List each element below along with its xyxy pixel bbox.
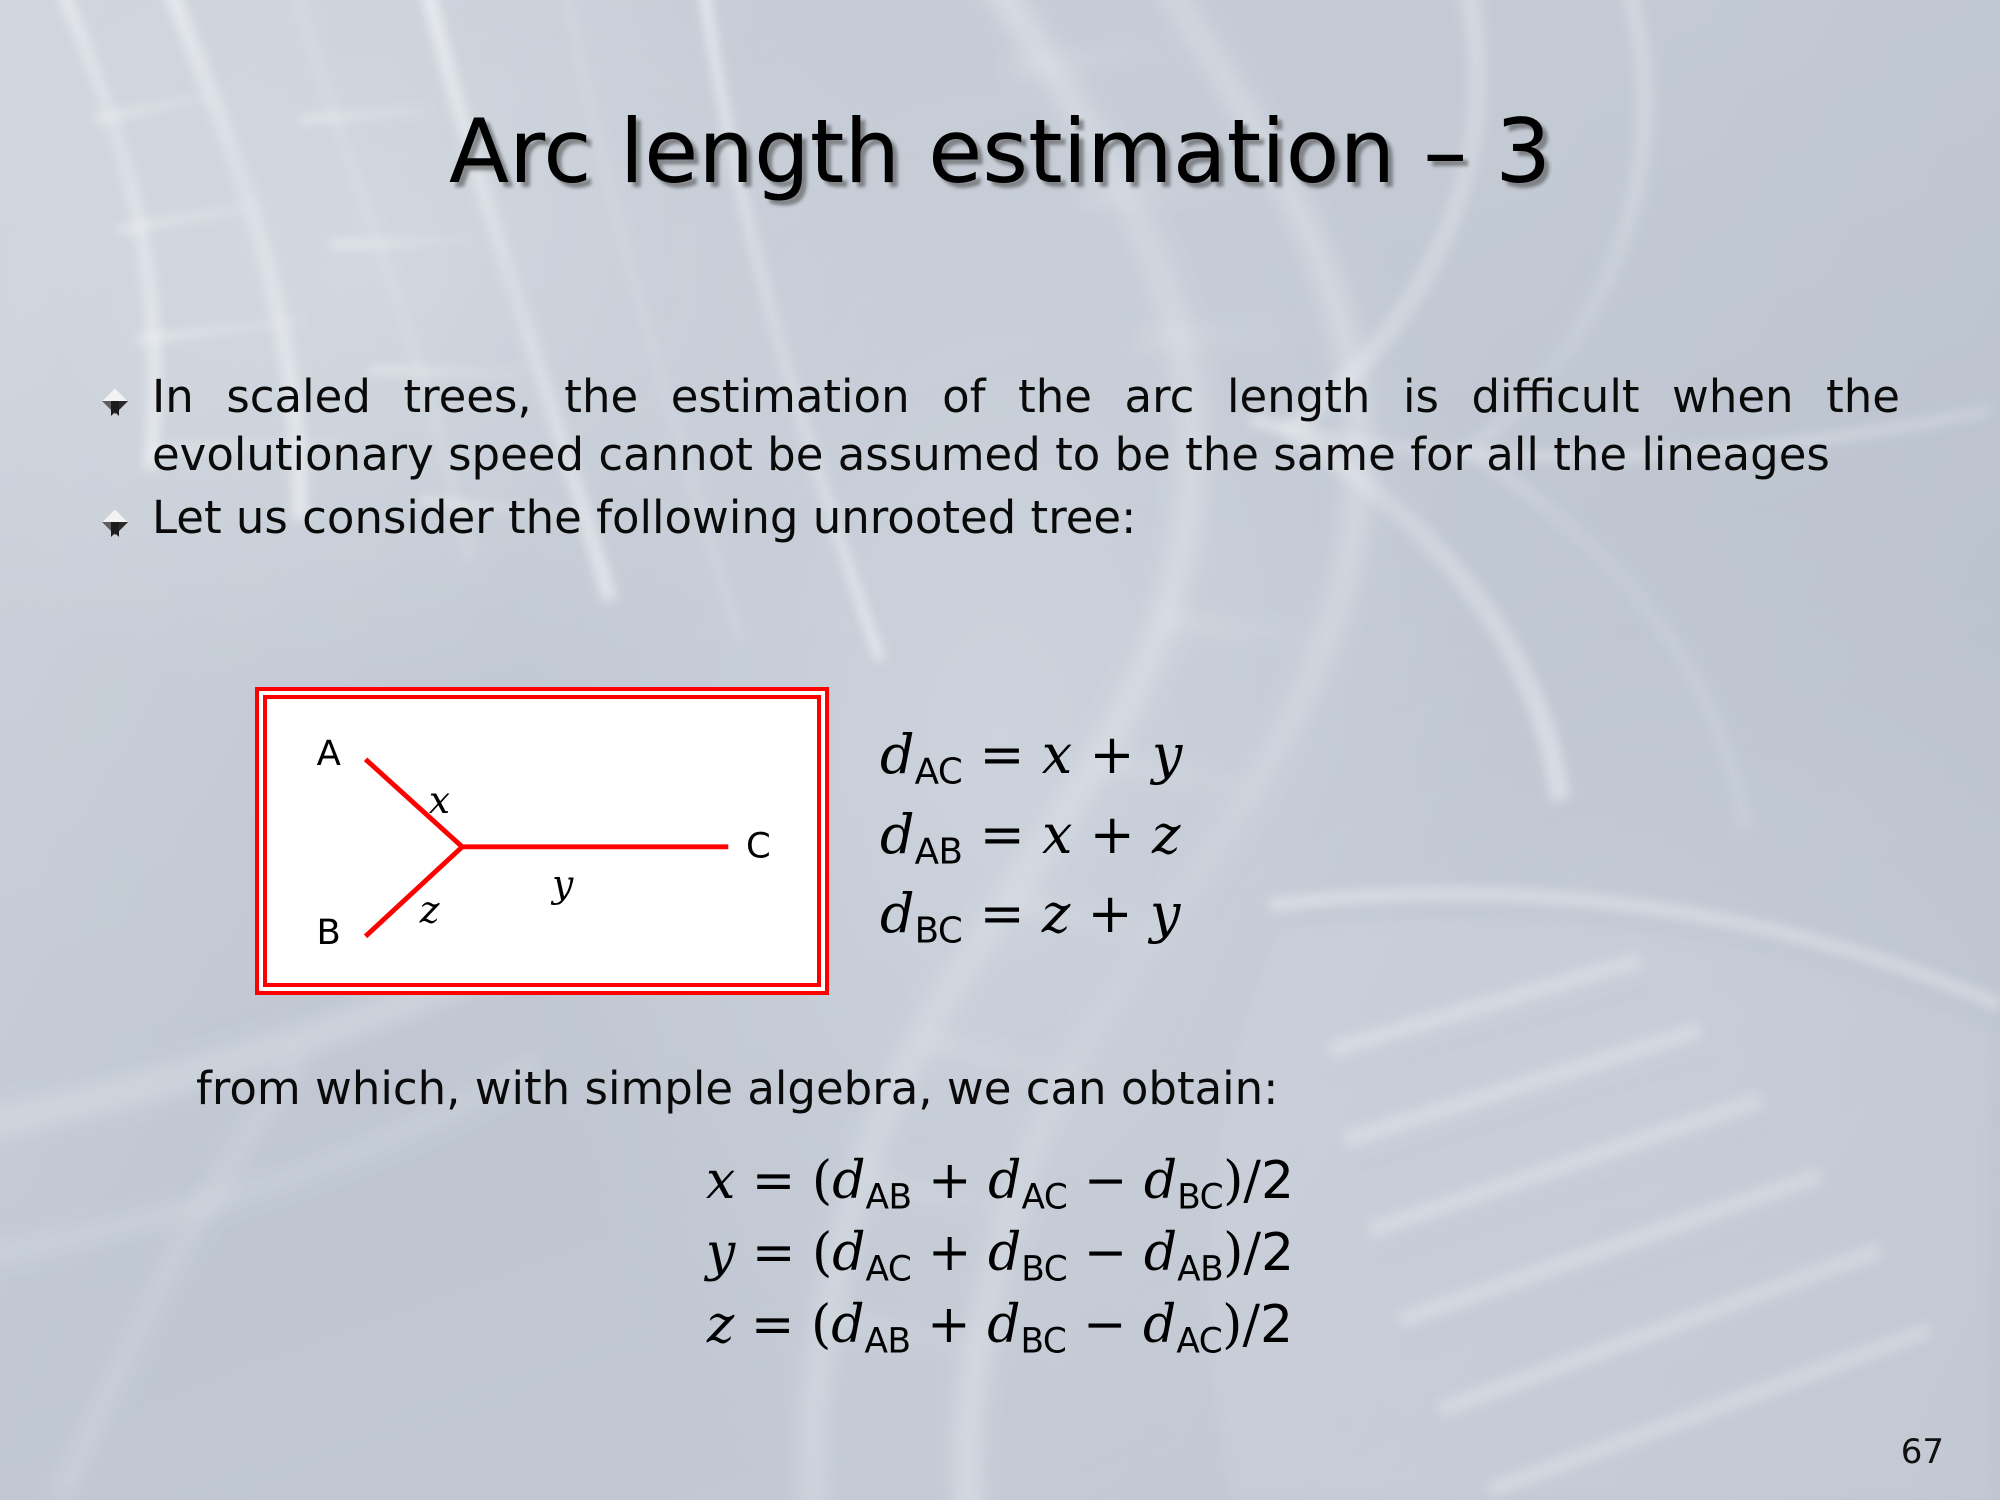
close-paren: ): [1222, 1295, 1242, 1355]
close-paren: ): [1223, 1223, 1243, 1283]
d-symbol: d: [988, 1151, 1021, 1211]
close-paren: ): [1223, 1151, 1243, 1211]
presentation-slide: Arc length estimation – 3 In scaled tree…: [0, 0, 2000, 1500]
solution-variable: x: [706, 1151, 735, 1211]
plus-symbol: +: [928, 1151, 972, 1211]
minus-symbol: −: [1084, 1223, 1128, 1283]
plus-symbol: +: [927, 1295, 971, 1355]
distance-rhs: x + z: [1042, 803, 1180, 866]
bullet-text: In scaled trees, the estimation of the a…: [152, 368, 1900, 483]
divisor: 2: [1261, 1223, 1294, 1283]
equals-symbol: =: [980, 803, 1025, 866]
equals-symbol: =: [979, 723, 1024, 786]
term-subscript: AB: [1177, 1249, 1223, 1289]
plus-symbol: +: [928, 1223, 972, 1283]
equals-symbol: =: [751, 1295, 795, 1355]
taxon-label-a: A: [317, 733, 341, 774]
distance-equation: dAB = x + z: [880, 798, 1182, 878]
bullet-text: Let us consider the following unrooted t…: [152, 489, 1900, 547]
taxon-label-c: C: [746, 826, 771, 867]
distance-equation: dAC = x + y: [880, 718, 1182, 798]
solution-equation: x = (dAB + dAC − dBC)/2: [0, 1148, 2000, 1220]
d-symbol: d: [832, 1151, 865, 1211]
d-symbol: d: [1143, 1295, 1176, 1355]
page-number: 67: [1901, 1432, 1944, 1472]
branch-label-x: x: [429, 778, 450, 822]
distance-subscript: AC: [915, 752, 963, 793]
minus-symbol: −: [1084, 1151, 1128, 1211]
unrooted-tree-figure: A B C x y z: [263, 695, 821, 987]
open-paren: (: [812, 1223, 832, 1283]
derivation-lead-text: from which, with simple algebra, we can …: [196, 1062, 1278, 1115]
term-subscript: AC: [1021, 1177, 1067, 1217]
open-paren: (: [812, 1151, 832, 1211]
term-subscript: AC: [866, 1249, 912, 1289]
distance-rhs: z + y: [1042, 882, 1181, 945]
solution-equation: y = (dAC + dBC − dAB)/2: [0, 1220, 2000, 1292]
slash-symbol: /: [1243, 1223, 1261, 1283]
equals-symbol: =: [979, 882, 1024, 945]
slash-symbol: /: [1242, 1295, 1260, 1355]
branch-z-line: [366, 847, 463, 936]
term-subscript: BC: [1021, 1321, 1067, 1361]
taxon-label-b: B: [317, 912, 341, 953]
equals-symbol: =: [752, 1223, 796, 1283]
d-symbol: d: [880, 803, 915, 866]
d-symbol: d: [880, 723, 915, 786]
d-symbol: d: [1144, 1223, 1177, 1283]
d-symbol: d: [1144, 1151, 1177, 1211]
branch-label-y: y: [550, 862, 574, 906]
distance-rhs: x + y: [1042, 723, 1183, 786]
open-paren: (: [811, 1295, 831, 1355]
bullet-item: Let us consider the following unrooted t…: [100, 489, 1900, 547]
d-symbol: d: [831, 1295, 864, 1355]
solution-variable: y: [706, 1223, 735, 1283]
branch-label-z: z: [419, 888, 440, 932]
slide-body: In scaled trees, the estimation of the a…: [100, 368, 1900, 553]
distance-subscript: AB: [915, 831, 963, 872]
d-symbol: d: [987, 1295, 1020, 1355]
solution-equation: z = (dAB + dBC − dAC)/2: [0, 1292, 2000, 1364]
term-subscript: AB: [865, 1321, 911, 1361]
term-subscript: BC: [1021, 1249, 1067, 1289]
distance-subscript: BC: [915, 911, 963, 952]
distance-equation-list: dAC = x + y dAB = x + z dBC = z + y: [880, 718, 1182, 957]
distance-equation: dBC = z + y: [880, 877, 1182, 957]
divisor: 2: [1261, 1151, 1294, 1211]
minus-symbol: −: [1083, 1295, 1127, 1355]
term-subscript: BC: [1177, 1177, 1223, 1217]
bullet-item: In scaled trees, the estimation of the a…: [100, 368, 1900, 483]
d-symbol: d: [832, 1223, 865, 1283]
divisor: 2: [1260, 1295, 1293, 1355]
slash-symbol: /: [1243, 1151, 1261, 1211]
solution-variable: z: [707, 1295, 734, 1355]
diamond-bullet-icon: [100, 386, 130, 416]
term-subscript: AB: [866, 1177, 912, 1217]
d-symbol: d: [880, 882, 915, 945]
slide-title: Arc length estimation – 3: [0, 108, 2000, 196]
equals-symbol: =: [752, 1151, 796, 1211]
term-subscript: AC: [1176, 1321, 1222, 1361]
solution-equation-list: x = (dAB + dAC − dBC)/2 y = (dAC + dBC −…: [0, 1148, 2000, 1364]
tree-graphic: A B C x y z: [267, 699, 817, 983]
diamond-bullet-icon: [100, 507, 130, 537]
d-symbol: d: [988, 1223, 1021, 1283]
